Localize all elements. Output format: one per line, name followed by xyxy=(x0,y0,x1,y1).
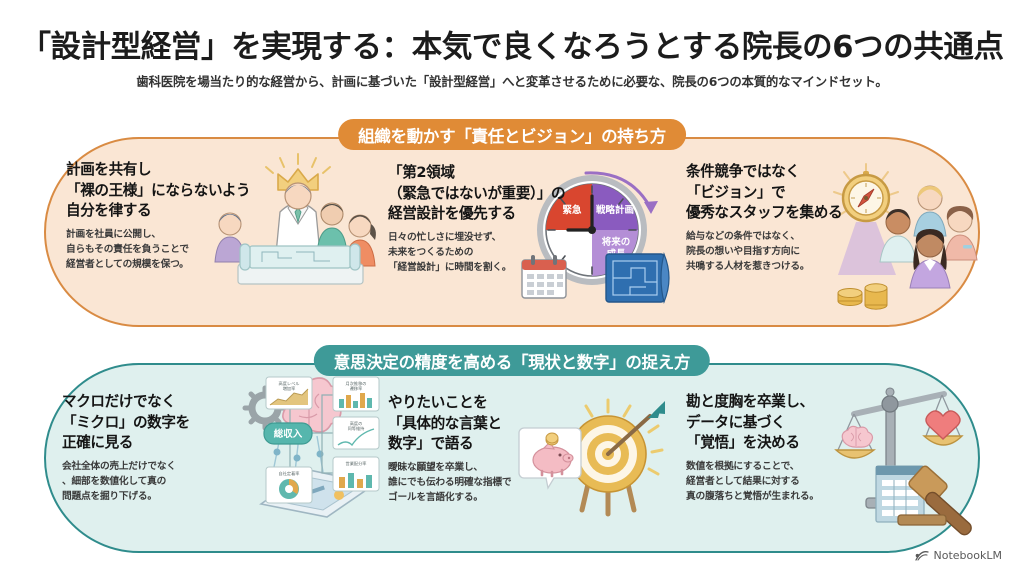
item-2-heading-line-3: 経営設計を優先する xyxy=(388,204,565,225)
clock-label-growth-line1: 将来の xyxy=(602,236,631,248)
item-4-heading-line-3: 正確に見る xyxy=(62,433,190,454)
item-2-heading-line-1: 「第2領域 xyxy=(388,163,565,184)
item-5-body: 曖昧な願望を卒業し、 誰にでも伝わる明確な指標で ゴールを言語化する。 xyxy=(388,461,511,505)
item-3-body-line-1: 給与などの条件ではなく、 xyxy=(686,230,842,245)
notebooklm-logo-icon xyxy=(915,550,929,562)
item-1-heading-line-2: 「裸の王様」にならないよう xyxy=(66,181,250,202)
item-5-body-line-3: ゴールを言語化する。 xyxy=(388,491,511,506)
item-3-body: 給与などの条件ではなく、 院長の想いや目指す方向に 共鳴する人材を惹きつける。 xyxy=(686,230,842,274)
item-2-heading-line-2: （緊急ではないが重要）」の xyxy=(388,184,565,205)
illustration-glowing-compass-staff-coins xyxy=(830,160,990,315)
staff-blonde xyxy=(914,186,946,236)
blueprint-table xyxy=(238,244,363,284)
staff-brunette xyxy=(944,206,977,260)
staff-male xyxy=(880,209,916,262)
item-6-body: 数値を根拠にすることで、 経営者として結果に対する 真の腹落ちと覚悟が生まれる。 xyxy=(686,460,819,504)
item-4-body-line-2: 、細部を数値化して真の xyxy=(62,475,190,490)
item-6-heading-line-2: データに基づく xyxy=(686,413,819,434)
illustration-scales-brain-heart-gavel xyxy=(848,380,998,530)
coins-stack-icon xyxy=(838,284,887,309)
item-5-heading-line-1: やりたいことを xyxy=(388,393,511,414)
svg-text:遷移率: 遷移率 xyxy=(350,385,363,392)
chart-card-bottom-left: 自社定着率 xyxy=(266,467,312,503)
item-1-body-line-2: 自らもその責任を負うことで xyxy=(66,243,250,258)
item-5-heading-line-2: 「具体的な言葉と xyxy=(388,414,511,435)
item-5-body-line-1: 曖昧な願望を卒業し、 xyxy=(388,461,511,476)
heart-icon xyxy=(926,411,960,439)
staff-dark-hair-front xyxy=(910,229,950,288)
page-title: 「設計型経営」を実現する：本気で良くなろうとする院長の6つの共通点 xyxy=(0,22,1024,66)
item-block-1: 計画を共有し 「裸の王様」にならないよう 自分を律する 計画を社員に公開し、 自… xyxy=(66,160,250,272)
item-4-body: 会社全体の売上だけでなく 、細部を数値化して真の 問題点を掘り下げる。 xyxy=(62,460,190,504)
item-5-heading: やりたいことを 「具体的な言葉と 数字」で語る xyxy=(388,393,511,455)
blueprint-icon xyxy=(606,254,669,302)
chart-card-top-right: 月次推移の 遷移率 xyxy=(333,377,379,411)
item-4-heading: マクロだけでなく 「ミクロ」の数字を 正確に見る xyxy=(62,392,190,454)
item-6-heading-line-3: 「覚悟」を決める xyxy=(686,433,819,454)
item-1-heading-line-3: 自分を律する xyxy=(66,201,250,222)
item-6-heading-line-1: 勘と度胸を卒業し、 xyxy=(686,392,819,413)
section-banner-responsibility-vision: 組織を動かす「責任とビジョン」の持ち方 xyxy=(338,119,686,150)
item-3-body-line-3: 共鳴する人材を惹きつける。 xyxy=(686,260,842,275)
item-3-heading: 条件競争ではなく 「ビジョン」で 優秀なスタッフを集める xyxy=(686,162,842,224)
item-3-heading-line-3: 優秀なスタッフを集める xyxy=(686,203,842,224)
item-6-body-line-3: 真の腹落ちと覚悟が生まれる。 xyxy=(686,490,819,505)
svg-text:同等維持: 同等維持 xyxy=(348,425,365,432)
item-block-5: やりたいことを 「具体的な言葉と 数字」で語る 曖昧な願望を卒業し、 誰にでも伝… xyxy=(388,393,511,505)
item-2-body: 日々の忙しさに埋没せず、 未来をつくるための 「経営設計」に時間を割く。 xyxy=(388,231,565,275)
svg-text:総収入: 総収入 xyxy=(274,428,303,440)
item-block-4: マクロだけでなく 「ミクロ」の数字を 正確に見る 会社全体の売上だけでなく 、細… xyxy=(62,392,190,504)
item-4-body-line-3: 問題点を掘り下げる。 xyxy=(62,490,190,505)
clock-label-strategy: 戦略計画 xyxy=(596,204,634,216)
item-6-body-line-1: 数値を根拠にすることで、 xyxy=(686,460,819,475)
item-6-heading: 勘と度胸を卒業し、 データに基づく 「覚悟」を決める xyxy=(686,392,819,454)
chart-card-mid-right: 高度の 同等維持 xyxy=(333,417,379,449)
item-3-body-line-2: 院長の想いや目指す方向に xyxy=(686,245,842,260)
item-5-body-line-2: 誰にでも伝わる明確な指標で xyxy=(388,476,511,491)
svg-text:営業配分率: 営業配分率 xyxy=(346,460,367,467)
item-block-2: 「第2領域 （緊急ではないが重要）」の 経営設計を優先する 日々の忙しさに埋没せ… xyxy=(388,163,565,275)
item-2-body-line-3: 「経営設計」に時間を割く。 xyxy=(388,261,565,276)
clock-label-urgent: 緊急 xyxy=(562,204,582,216)
piggybank-bubble xyxy=(519,428,581,488)
infographic-page: 「設計型経営」を実現する：本気で良くなろうとする院長の6つの共通点 歯科医院を場… xyxy=(0,0,1024,572)
svg-text:自社定着率: 自社定着率 xyxy=(279,470,300,477)
section-banner-data-numbers: 意思決定の精度を高める「現状と数字」の捉え方 xyxy=(314,345,710,376)
item-6-body-line-2: 経営者として結果に対する xyxy=(686,475,819,490)
svg-text:増加率: 増加率 xyxy=(283,385,296,392)
item-3-heading-line-2: 「ビジョン」で xyxy=(686,183,842,204)
item-4-body-line-1: 会社全体の売上だけでなく xyxy=(62,460,190,475)
page-subtitle: 歯科医院を場当たり的な経営から、計画に基づいた「設計型経営」へと変革させるために… xyxy=(0,72,1024,90)
watermark: NotebookLM xyxy=(915,549,1002,562)
item-1-body: 計画を社員に公開し、 自らもその責任を負うことで 経営者としての規模を保つ。 xyxy=(66,228,250,272)
item-4-heading-line-1: マクロだけでなく xyxy=(62,392,190,413)
item-2-body-line-1: 日々の忙しさに埋没せず、 xyxy=(388,231,565,246)
chart-card-bottom-right: 営業配分率 xyxy=(333,457,379,491)
item-block-3: 条件競争ではなく 「ビジョン」で 優秀なスタッフを集める 給与などの条件ではなく… xyxy=(686,162,842,274)
item-1-body-line-1: 計画を社員に公開し、 xyxy=(66,228,250,243)
item-1-heading-line-1: 計画を共有し xyxy=(66,160,250,181)
item-2-heading: 「第2領域 （緊急ではないが重要）」の 経営設計を優先する xyxy=(388,163,565,225)
diagram-center-node: 総収入 xyxy=(264,423,312,444)
item-5-heading-line-3: 数字」で語る xyxy=(388,434,511,455)
item-1-body-line-3: 経営者としての規模を保つ。 xyxy=(66,258,250,273)
item-3-heading-line-1: 条件競争ではなく xyxy=(686,162,842,183)
item-1-heading: 計画を共有し 「裸の王様」にならないよう 自分を律する xyxy=(66,160,250,222)
item-block-6: 勘と度胸を卒業し、 データに基づく 「覚悟」を決める 数値を根拠にすることで、 … xyxy=(686,392,819,504)
item-2-body-line-2: 未来をつくるための xyxy=(388,246,565,261)
watermark-label: NotebookLM xyxy=(934,549,1002,562)
chart-card-top-left: 高度レベル 増加率 xyxy=(266,377,312,409)
illustration-dartboard-arrow-piggybank xyxy=(522,398,682,523)
illustration-revenue-breakdown-diagram: 高度レベル 増加率 月次推移の 遷移率 高度の xyxy=(260,375,385,515)
doctor-figure xyxy=(276,183,320,254)
item-4-heading-line-2: 「ミクロ」の数字を xyxy=(62,413,190,434)
